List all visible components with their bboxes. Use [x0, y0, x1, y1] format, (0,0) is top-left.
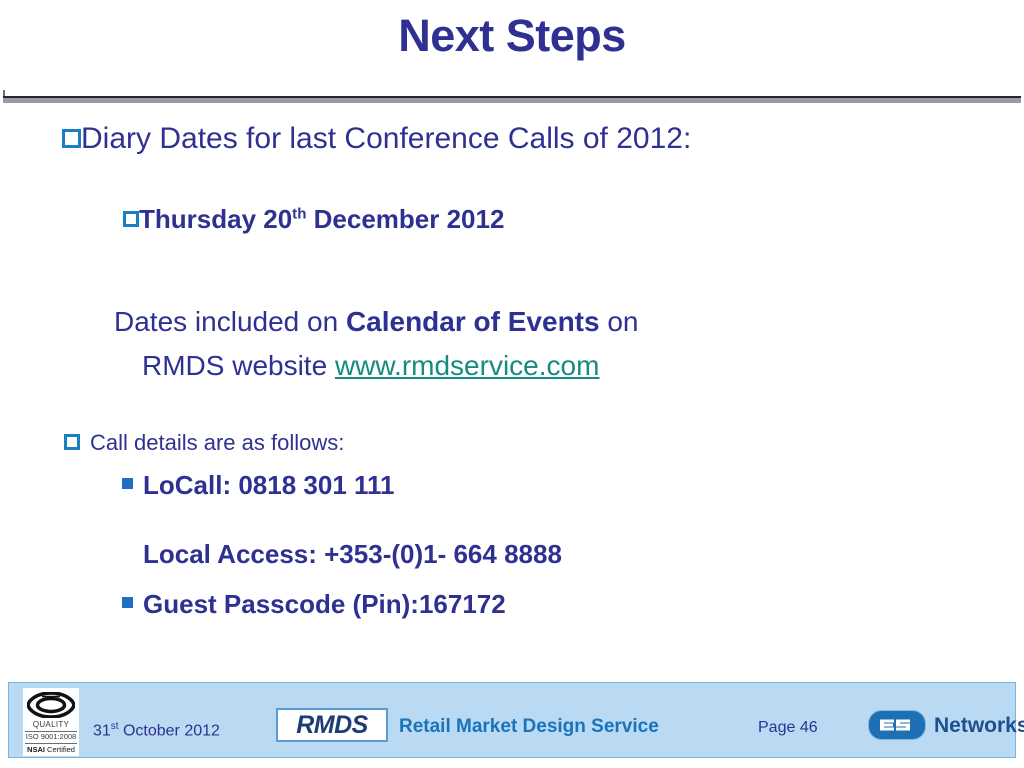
bullet-item-call-details-label: Call details are as follows: [80, 430, 344, 455]
bullet-item-thursday-date: Thursday 20th December 2012 [123, 204, 504, 235]
nsai-certified-rest: Certified [45, 745, 75, 754]
rmds-tagline: Retail Market Design Service [399, 716, 659, 738]
bullet-item-thursday-date-prefix: Thursday 20 [139, 204, 292, 234]
nsai-iso-label: ISO 9001:2008 [25, 732, 77, 744]
sub-bullet-guest-passcode-label: Guest Passcode (Pin):167172 [133, 589, 506, 619]
footer-date-rest: October 2012 [119, 722, 220, 739]
sub-bullet-locall: LoCall: 0818 301 111 [122, 470, 395, 501]
page-number: Page 46 [758, 719, 818, 737]
filled-square-bullet-icon [122, 478, 133, 489]
sub-bullet-local-access-label: Local Access: +353-(0)1- 664 8888 [143, 539, 562, 569]
footer-date-day: 31 [93, 722, 111, 739]
bullet-item-diary-dates-label: Diary Dates for last Conference Calls of… [81, 122, 691, 155]
paragraph-text-calendar-of-events: Calendar of Events [346, 306, 600, 337]
paragraph-text-rmds-website: RMDS website [142, 350, 335, 381]
nsai-certification-logo: QUALITY ISO 9001:2008 NSAI Certified [23, 688, 79, 756]
sub-bullet-locall-label: LoCall: 0818 301 111 [133, 470, 395, 500]
title-divider [3, 96, 1021, 104]
sub-bullet-guest-passcode: Guest Passcode (Pin):167172 [122, 589, 506, 620]
nsai-certified-bold: NSAI [27, 745, 45, 754]
sub-bullet-local-access: Local Access: +353-(0)1- 664 8888 [143, 539, 562, 570]
page-title: Next Steps [0, 12, 1024, 59]
footer-date: 31st October 2012 [93, 721, 220, 740]
paragraph-text-c: on [600, 306, 639, 337]
hollow-square-bullet-icon [62, 129, 81, 148]
nsai-certified-label: NSAI Certified [25, 744, 77, 755]
paragraph-line-1: Dates included on Calendar of Events on [114, 306, 639, 338]
hollow-square-bullet-icon [123, 211, 139, 227]
hollow-square-bullet-icon [64, 434, 80, 450]
esb-networks-label: Networks [934, 714, 1024, 738]
slide-body: Diary Dates for last Conference Calls of… [0, 112, 1024, 672]
footer-date-ordinal: st [111, 721, 119, 732]
bullet-item-call-details: Call details are as follows: [64, 430, 344, 456]
divider-gray-band [3, 98, 1021, 103]
bullet-item-thursday-date-suffix: December 2012 [306, 204, 504, 234]
ordinal-suffix: th [292, 205, 306, 222]
rmds-logo-text: RMDS [296, 711, 368, 739]
bullet-item-diary-dates: Diary Dates for last Conference Calls of… [62, 122, 691, 156]
nsai-eye-icon [27, 692, 75, 718]
paragraph-text-a: Dates included on [114, 306, 346, 337]
rmdservice-link[interactable]: www.rmdservice.com [335, 350, 599, 381]
rmds-logo: RMDS [276, 708, 388, 742]
nsai-quality-label: QUALITY [25, 720, 77, 732]
paragraph-line-2: RMDS website www.rmdservice.com [142, 350, 599, 382]
filled-square-bullet-icon [122, 597, 133, 608]
esb-logo-icon [868, 710, 926, 740]
